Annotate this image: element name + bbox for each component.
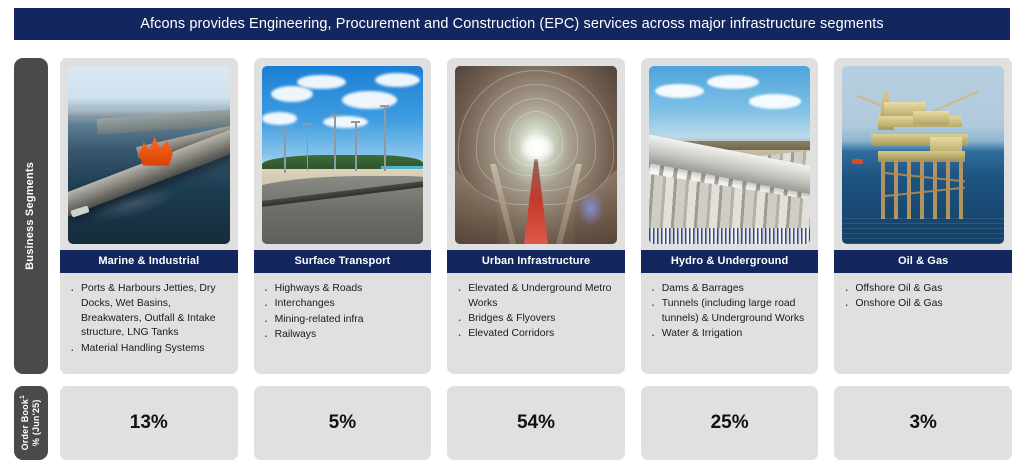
order-book-percent-value: 13% [130, 412, 168, 434]
order-book-box-hydro-underground: 25% [641, 386, 819, 460]
list-item: Elevated & Underground Metro Works [453, 282, 619, 312]
list-item: Elevated Corridors [453, 327, 619, 342]
list-item: Interchanges [260, 297, 426, 312]
marine-jetty-crane-photo [68, 66, 230, 244]
list-item: Onshore Oil & Gas [840, 297, 1006, 312]
order-book-box-urban-infrastructure: 54% [447, 386, 625, 460]
segment-card-hydro-underground[interactable]: Hydro & Underground Dams & Barrages Tunn… [641, 58, 819, 374]
segment-card-surface-transport[interactable]: Surface Transport Highways & Roads Inter… [254, 58, 432, 374]
cloud-shape [323, 116, 368, 128]
segment-card-oil-gas[interactable]: Oil & Gas Offshore Oil & Gas Onshore Oil… [834, 58, 1012, 374]
cloud-shape [297, 75, 345, 89]
segment-cards-row: Marine & Industrial Ports & Harbours Jet… [60, 58, 1012, 374]
segment-title: Surface Transport [254, 250, 432, 273]
order-book-percent-value: 5% [329, 412, 356, 434]
order-book-box-surface-transport: 5% [254, 386, 432, 460]
list-item: Tunnels (including large road tunnels) &… [647, 297, 813, 327]
order-book-percent-value: 25% [711, 412, 749, 434]
sea-swell-shape [842, 216, 1004, 244]
segment-body: Ports & Harbours Jetties, Dry Docks, Wet… [60, 273, 238, 374]
blue-light-glow-shape [578, 191, 604, 227]
list-item: Dams & Barrages [647, 282, 813, 297]
segment-bullet-list: Dams & Barrages Tunnels (including large… [647, 282, 813, 342]
rail-order-book-label: Order Book1 % (Jun'25) [19, 395, 43, 450]
segment-card-urban-infrastructure[interactable]: Urban Infrastructure Elevated & Undergro… [447, 58, 625, 374]
order-book-percent-value: 54% [517, 412, 555, 434]
segment-bullet-list: Offshore Oil & Gas Onshore Oil & Gas [840, 282, 1006, 312]
segment-body: Dams & Barrages Tunnels (including large… [641, 273, 819, 374]
photo-frame [447, 58, 625, 250]
dam-barrage-photo [649, 66, 811, 244]
segment-bullet-list: Ports & Harbours Jetties, Dry Docks, Wet… [66, 282, 232, 356]
segment-title: Urban Infrastructure [447, 250, 625, 273]
order-book-box-marine-industrial: 13% [60, 386, 238, 460]
segment-card-marine-industrial[interactable]: Marine & Industrial Ports & Harbours Jet… [60, 58, 238, 374]
highway-road-photo [262, 66, 424, 244]
order-book-percent-value: 3% [909, 412, 936, 434]
footnote-marker: 1 [19, 395, 26, 399]
segment-title: Marine & Industrial [60, 250, 238, 273]
segment-body: Offshore Oil & Gas Onshore Oil & Gas [834, 273, 1012, 374]
photo-frame [60, 58, 238, 250]
order-book-box-oil-gas: 3% [834, 386, 1012, 460]
photo-frame [834, 58, 1012, 250]
cloud-shape [262, 112, 298, 124]
page-title: Afcons provides Engineering, Procurement… [140, 16, 883, 32]
rail-order-book: Order Book1 % (Jun'25) [14, 386, 48, 460]
rail-order-book-line1: Order Book [20, 399, 30, 451]
list-item: Water & Irrigation [647, 327, 813, 342]
list-item: Highways & Roads [260, 282, 426, 297]
segment-bullet-list: Elevated & Underground Metro Works Bridg… [453, 282, 619, 342]
segment-body: Elevated & Underground Metro Works Bridg… [447, 273, 625, 374]
header-band: Afcons provides Engineering, Procurement… [14, 8, 1010, 40]
photo-frame [641, 58, 819, 250]
railing-fence-shape [649, 228, 811, 244]
rail-order-book-line2: % (Jun'25) [32, 400, 42, 447]
segment-title: Oil & Gas [834, 250, 1012, 273]
lamp-post-shape [355, 121, 357, 171]
segment-title: Hydro & Underground [641, 250, 819, 273]
list-item: Offshore Oil & Gas [840, 282, 1006, 297]
offshore-oil-platform-photo [842, 66, 1004, 244]
flare-stack-shape [852, 159, 863, 164]
rail-business-segments-label: Business Segments [24, 162, 38, 270]
cloud-shape [655, 84, 703, 98]
cloud-shape [749, 94, 801, 108]
lamp-post-shape [334, 114, 336, 169]
cloud-shape [271, 86, 313, 102]
list-item: Material Handling Systems [66, 342, 232, 357]
lamp-post-shape [384, 105, 386, 171]
list-item: Ports & Harbours Jetties, Dry Docks, Wet… [66, 282, 232, 341]
platform-module-shape [913, 111, 949, 125]
slide-root: Afcons provides Engineering, Procurement… [0, 0, 1024, 468]
lamp-post-shape [284, 130, 286, 173]
cloud-shape [707, 75, 759, 89]
lamp-post-shape [307, 123, 309, 171]
cloud-shape [375, 73, 420, 87]
segment-bullet-list: Highways & Roads Interchanges Mining-rel… [260, 282, 426, 343]
list-item: Bridges & Flyovers [453, 312, 619, 327]
list-item: Railways [260, 328, 426, 343]
rail-business-segments: Business Segments [14, 58, 48, 374]
metro-tunnel-photo [455, 66, 617, 244]
photo-frame [254, 58, 432, 250]
list-item: Mining-related infra [260, 313, 426, 328]
order-book-percent-row: 13% 5% 54% 25% 3% [60, 386, 1012, 460]
segment-body: Highways & Roads Interchanges Mining-rel… [254, 273, 432, 374]
